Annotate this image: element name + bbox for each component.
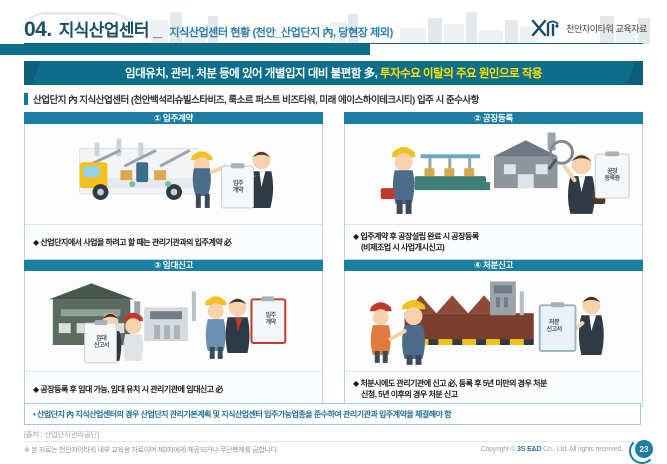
- clipboard-label-text: 공장 등록증: [605, 169, 620, 184]
- source-label: [출처 : 산업단지관리공단]: [24, 429, 99, 440]
- header-color-band: [0, 44, 370, 55]
- panel-note-line2: 신청, 5년 이후의 경우 처분 신고: [353, 389, 547, 401]
- banner-text: 임대유치, 관리, 처분 등에 있어 개별입지 대비 불편함 多, 투자수요 이…: [125, 65, 542, 81]
- page-subtitle-text: 지식산업센터 현황 (천안_산업단지 內, 당현장 제외): [169, 24, 392, 40]
- panel-body: 처분 신고서 ◆ 처분시에도 관리기관에 신고 必, 등록 후 5년 미만의 경…: [344, 271, 643, 407]
- header-band-spacer: [370, 44, 667, 55]
- page-number-label: 04.: [24, 18, 52, 42]
- process-panels: ① 입주계약: [24, 112, 643, 397]
- clipboard-label-2: 공장 등록증: [594, 154, 630, 198]
- panel-note: ◆ 공장등록 후 임대 가능, 임대 유치 시 관리기관에 임대신고 必: [25, 371, 322, 406]
- illustration-disposal-report: 처분 신고서: [345, 271, 642, 371]
- copyright-text: Copyright © 3S E&D Co., Ltd. All rights …: [481, 446, 623, 453]
- panel-header: ② 공장등록: [344, 112, 643, 124]
- panel-body: 임대 신고서 입주 계약 ◆ 공장등록 후 임대 가능, 임대 유치 시 관리기…: [24, 271, 323, 407]
- panel-occupancy-contract: ① 입주계약: [24, 112, 323, 250]
- panel-note-line1: ◆ 입주계약 후 공장설립 완료 시 공장등록: [353, 232, 479, 241]
- footer-rule: [24, 441, 643, 442]
- section-subheading: 산업단지 內 지식산업센터 (천안백석리슈빌스타비즈, 룩소르 퍼스트 비즈타워…: [24, 92, 479, 106]
- page-title-text: 지식산업센터: [59, 16, 149, 41]
- copyright-suffix: Co., Ltd. All rights reserved.: [541, 446, 623, 453]
- panel-header-label: ① 입주계약: [154, 112, 193, 124]
- panel-disposal-report: ④ 처분신고: [344, 259, 643, 397]
- panel-note-line2: (비제조업 시 사업개시신고): [353, 242, 479, 254]
- banner-text-highlight: 투자수요 이탈의 주요 원인으로 작용: [380, 68, 542, 80]
- brand-lockup: 천안자이타워 교육자료: [531, 18, 647, 38]
- panel-note: ◆ 산업단지에서 사업을 하려고 할 때는 관리기관과의 입주계약 必: [25, 224, 322, 259]
- panel-note: ◆ 처분시에도 관리기관에 신고 必, 등록 후 5년 미만의 경우 처분 신청…: [345, 371, 642, 406]
- panel-body: 입주 계약 ◆ 산업단지에서 사업을 하려고 할 때는 관리기관과의 입주계약 …: [24, 124, 323, 260]
- banner-text-main: 임대유치, 관리, 처분 등에 있어 개별입지 대비 불편함 多,: [125, 68, 377, 80]
- panel-header: ④ 처분신고: [344, 259, 643, 271]
- subheading-bullet-icon: [24, 93, 28, 105]
- panel-header: ① 입주계약: [24, 112, 323, 124]
- bottom-note-text: • 산업단지 內 지식산업센터의 경우 산업단지 관리기본계획 및 지식산업센터…: [33, 409, 451, 420]
- panel-lease-report: ③ 임대신고: [24, 259, 323, 397]
- page-title: 04. 지식산업센터 _ 지식산업센터 현황 (천안_산업단지 內, 당현장 제…: [24, 16, 393, 44]
- copyright-prefix: Copyright ©: [481, 446, 518, 453]
- clipboard-label-3b: 입주 계약: [254, 298, 288, 342]
- clipboard-label-3a: 임대 신고서: [84, 323, 118, 363]
- bottom-note-box: • 산업단지 內 지식산업센터의 경우 산업단지 관리기본계획 및 지식산업센터…: [24, 403, 641, 425]
- slide: 04. 지식산업센터 _ 지식산업센터 현황 (천안_산업단지 內, 당현장 제…: [0, 0, 667, 460]
- clipboard-label-4: 처분 신고서: [535, 304, 573, 350]
- panel-note-text: ◆ 입주계약 후 공장설립 완료 시 공장등록 (비제조업 시 사업개시신고): [353, 231, 479, 254]
- clipboard-label-text-2: 입주 계약: [266, 313, 276, 328]
- panel-factory-registration: ② 공장등록: [344, 112, 643, 250]
- page-number-badge: 23: [635, 440, 653, 458]
- disclaimer-text: ※ 본 자료는 천안자이타워 내부 교육용 자료이며 제3자에게 제공되거나 무…: [24, 445, 278, 455]
- panel-header: ③ 임대신고: [24, 259, 323, 271]
- panel-header-label: ③ 임대신고: [154, 259, 193, 271]
- panel-note-line1: ◆ 처분시에도 관리기관에 신고 必, 등록 후 5년 미만의 경우 처분: [353, 379, 547, 388]
- key-message-banner: 임대유치, 관리, 처분 등에 있어 개별입지 대비 불편함 多, 투자수요 이…: [24, 61, 643, 85]
- panel-note-text: ◆ 공장등록 후 임대 가능, 임대 유치 시 관리기관에 임대신고 必: [33, 384, 223, 396]
- copyright-brand: 3S E&D: [517, 446, 541, 453]
- panel-note-text: ◆ 산업단지에서 사업을 하려고 할 때는 관리기관과의 입주계약 必: [33, 237, 231, 249]
- xi-logo-icon: [531, 18, 561, 38]
- clipboard-label-1: 입주 계약: [221, 166, 255, 210]
- panel-header-label: ④ 처분신고: [474, 259, 513, 271]
- clipboard-label-text: 임대 신고서: [94, 336, 109, 351]
- panel-body: 공장 등록증 ◆ 입주계약 후 공장설립 완료 시 공장등록 (비제조업 시 사…: [344, 124, 643, 260]
- subheading-text: 산업단지 內 지식산업센터 (천안백석리슈빌스타비즈, 룩소르 퍼스트 비즈타워…: [33, 92, 479, 106]
- illustration-factory-inspection: 공장 등록증: [345, 124, 642, 224]
- panel-header-label: ② 공장등록: [474, 112, 513, 124]
- illustration-lease-report: 임대 신고서 입주 계약: [25, 271, 322, 371]
- clipboard-label-text: 처분 신고서: [547, 320, 562, 335]
- clipboard-label-text: 입주 계약: [233, 181, 243, 196]
- brand-name-label: 천안자이타워 교육자료: [566, 22, 647, 35]
- illustration-truck-contract: 입주 계약: [25, 124, 322, 224]
- title-separator: _: [153, 21, 162, 41]
- panel-note-text: ◆ 처분시에도 관리기관에 신고 必, 등록 후 5년 미만의 경우 처분 신청…: [353, 378, 547, 401]
- panel-note: ◆ 입주계약 후 공장설립 완료 시 공장등록 (비제조업 시 사업개시신고): [345, 224, 642, 259]
